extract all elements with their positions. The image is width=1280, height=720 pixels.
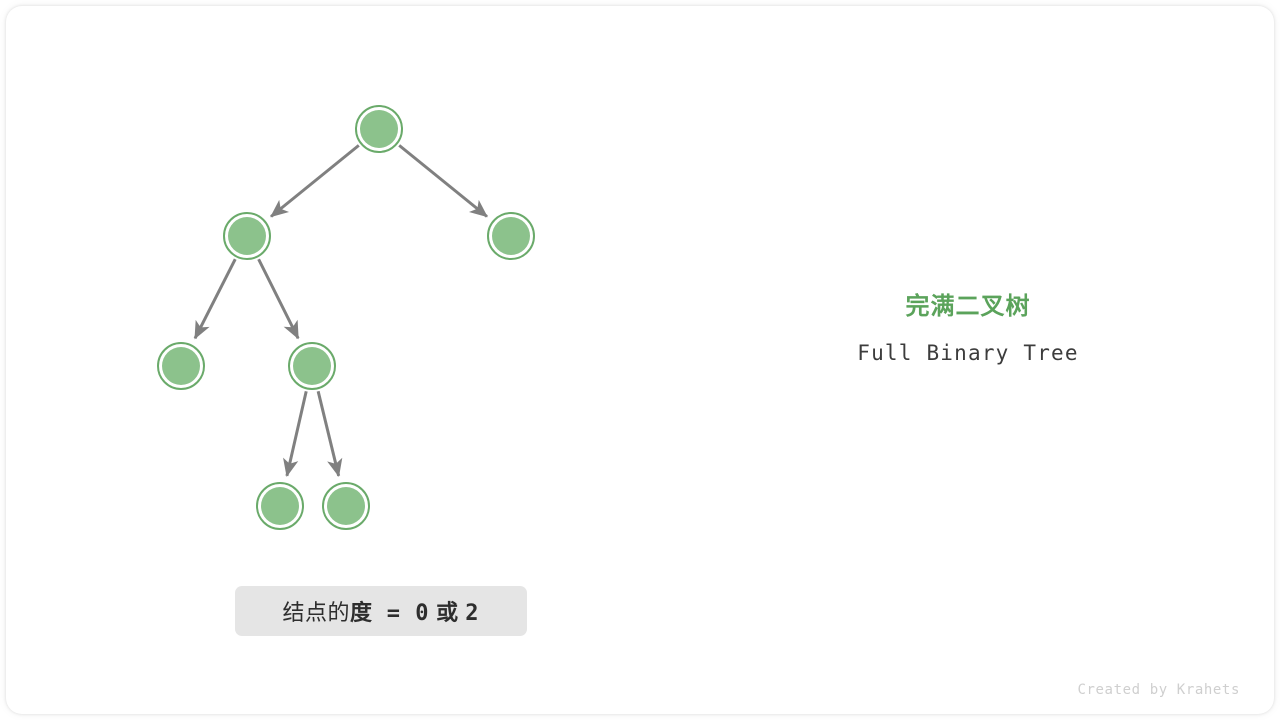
figure-canvas: 完满二叉树 Full Binary Tree 结点的度 = 0 或 2 Crea… [0,0,1280,720]
tree-node-fill [261,487,299,525]
degree-formula: 结点的度 = 0 或 2 [282,595,479,627]
degree-prefix: 结点的 [282,595,350,627]
caption-subtitle: Full Binary Tree [704,340,1232,366]
tree-node [224,213,270,259]
tree-nodes [158,106,534,529]
degree-badge: 结点的度 = 0 或 2 [235,586,527,636]
tree-edge [271,145,359,216]
tree-node-fill [492,217,530,255]
tree-node [158,343,204,389]
tree-node [257,483,303,529]
tree-node-fill [327,487,365,525]
tree-node [356,106,402,152]
tree-node-fill [360,110,398,148]
tree-edge [287,391,306,475]
tree-node-fill [162,347,200,385]
degree-keyword: 度 [350,595,373,627]
caption-block: 完满二叉树 Full Binary Tree [704,292,1232,366]
caption-title: 完满二叉树 [704,292,1232,322]
tree-edge [195,259,235,338]
tree-edge [259,259,299,338]
degree-conjunction: 或 [430,595,466,627]
credit-text: Created by Krahets [1077,682,1240,698]
degree-equals: = [373,601,416,626]
tree-node [289,343,335,389]
tree-edge [399,145,487,216]
tree-node [488,213,534,259]
degree-value-two: 2 [465,601,479,626]
tree-node-fill [293,347,331,385]
tree-edge [318,391,339,476]
tree-node-fill [228,217,266,255]
tree-node [323,483,369,529]
tree-edges [195,145,487,476]
degree-value-zero: 0 [415,601,429,626]
